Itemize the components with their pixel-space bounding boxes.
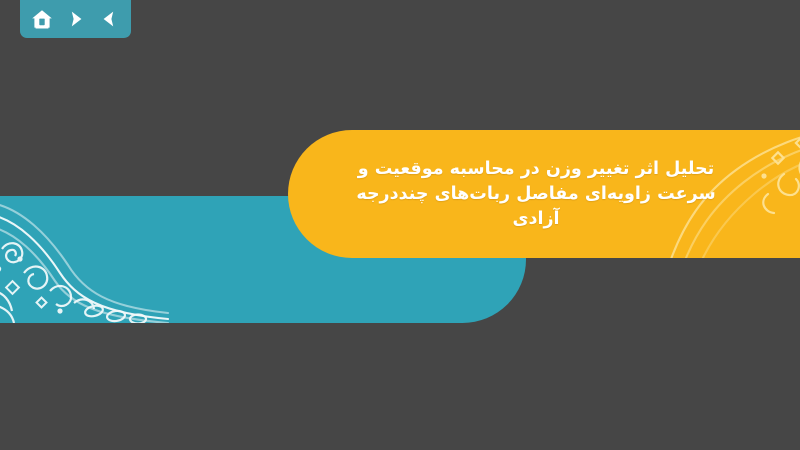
slide-canvas: تحلیل اثر تغییر وزن در محاسبه موقعیت و س… <box>0 0 800 450</box>
title-line-1: تحلیل اثر تغییر وزن در محاسبه موقعیت و <box>358 157 714 182</box>
arabesque-corner-ornament <box>0 196 170 323</box>
title-line-3: آزادی <box>512 207 559 232</box>
navigation-bar <box>20 0 131 38</box>
forward-icon[interactable] <box>63 7 89 31</box>
title-line-2: سرعت زاویه‌ای مفاصل ربات‌های چنددرجه <box>356 182 715 207</box>
home-icon[interactable] <box>29 7 55 31</box>
back-icon[interactable] <box>96 7 122 31</box>
title-text-block: تحلیل اثر تغییر وزن در محاسبه موقعیت و س… <box>288 130 800 258</box>
title-card: تحلیل اثر تغییر وزن در محاسبه موقعیت و س… <box>288 130 800 258</box>
